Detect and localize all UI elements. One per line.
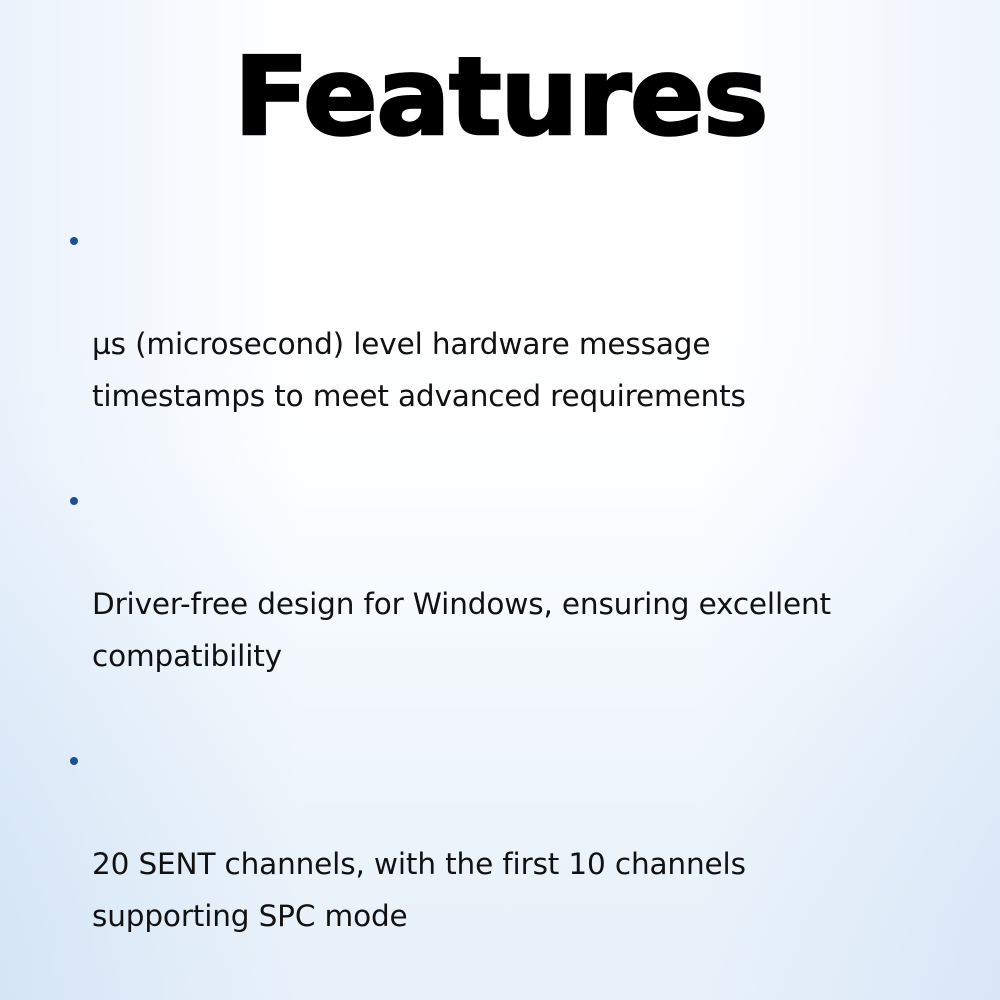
bullet-dot-icon bbox=[70, 237, 78, 245]
title-block: Features bbox=[0, 0, 1000, 196]
bullet-dot-icon bbox=[70, 757, 78, 765]
list-item: 20 SENT channels, with the first 10 chan… bbox=[66, 734, 946, 994]
feature-list: µs (microsecond) level hardware message … bbox=[66, 214, 946, 1000]
page-title: Features bbox=[233, 44, 766, 152]
bullet-dot-icon bbox=[70, 497, 78, 505]
list-item: 16 PSI5 channels bbox=[66, 994, 946, 1000]
list-item: µs (microsecond) level hardware message … bbox=[66, 214, 946, 474]
list-item-label: Driver-free design for Windows, ensuring… bbox=[92, 578, 946, 682]
features-poster: Features µs (microsecond) level hardware… bbox=[0, 0, 1000, 1000]
list-item-label: µs (microsecond) level hardware message … bbox=[92, 318, 946, 422]
list-item-label: 20 SENT channels, with the first 10 chan… bbox=[92, 838, 946, 942]
list-item: Driver-free design for Windows, ensuring… bbox=[66, 474, 946, 734]
